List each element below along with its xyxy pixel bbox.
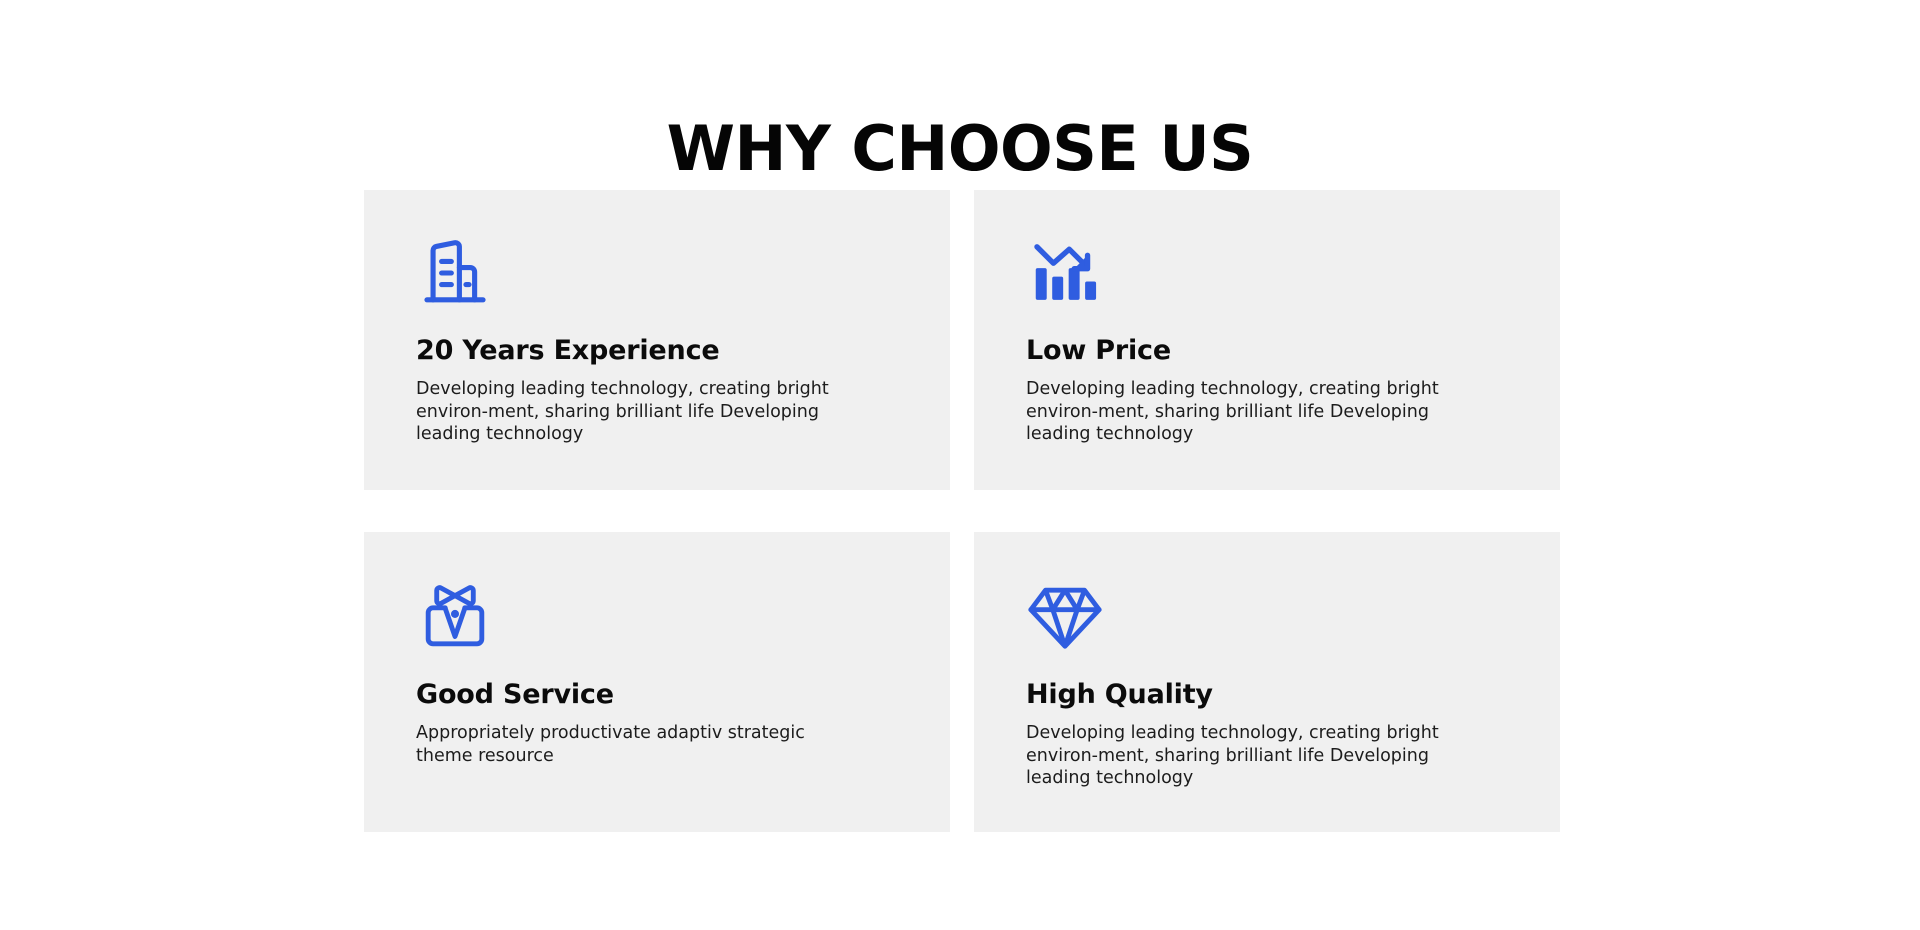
feature-card-low-price[interactable]: Low Price Developing leading technology,… [974,190,1560,490]
feature-card-text: Appropriately productivate adaptiv strat… [416,722,836,767]
why-choose-us-section: WHY CHOOSE US 20 Years Experience Develo… [0,0,1920,930]
feature-card-title: Good Service [416,678,898,712]
page-title: WHY CHOOSE US [0,114,1920,184]
feature-card-20-years-experience[interactable]: 20 Years Experience Developing leading t… [364,190,950,490]
suit-bowtie-icon [416,578,494,656]
feature-card-high-quality[interactable]: High Quality Developing leading technolo… [974,532,1560,832]
feature-card-good-service[interactable]: Good Service Appropriately productivate … [364,532,950,832]
diamond-icon [1026,578,1104,656]
feature-card-title: 20 Years Experience [416,334,898,368]
feature-card-text: Developing leading technology, creating … [1026,378,1446,446]
feature-card-grid: 20 Years Experience Developing leading t… [364,190,1560,832]
feature-card-title: High Quality [1026,678,1508,712]
feature-card-title: Low Price [1026,334,1508,368]
office-building-icon [416,234,494,312]
feature-card-text: Developing leading technology, creating … [1026,722,1446,790]
declining-bar-chart-icon [1026,234,1104,312]
feature-card-text: Developing leading technology, creating … [416,378,836,446]
